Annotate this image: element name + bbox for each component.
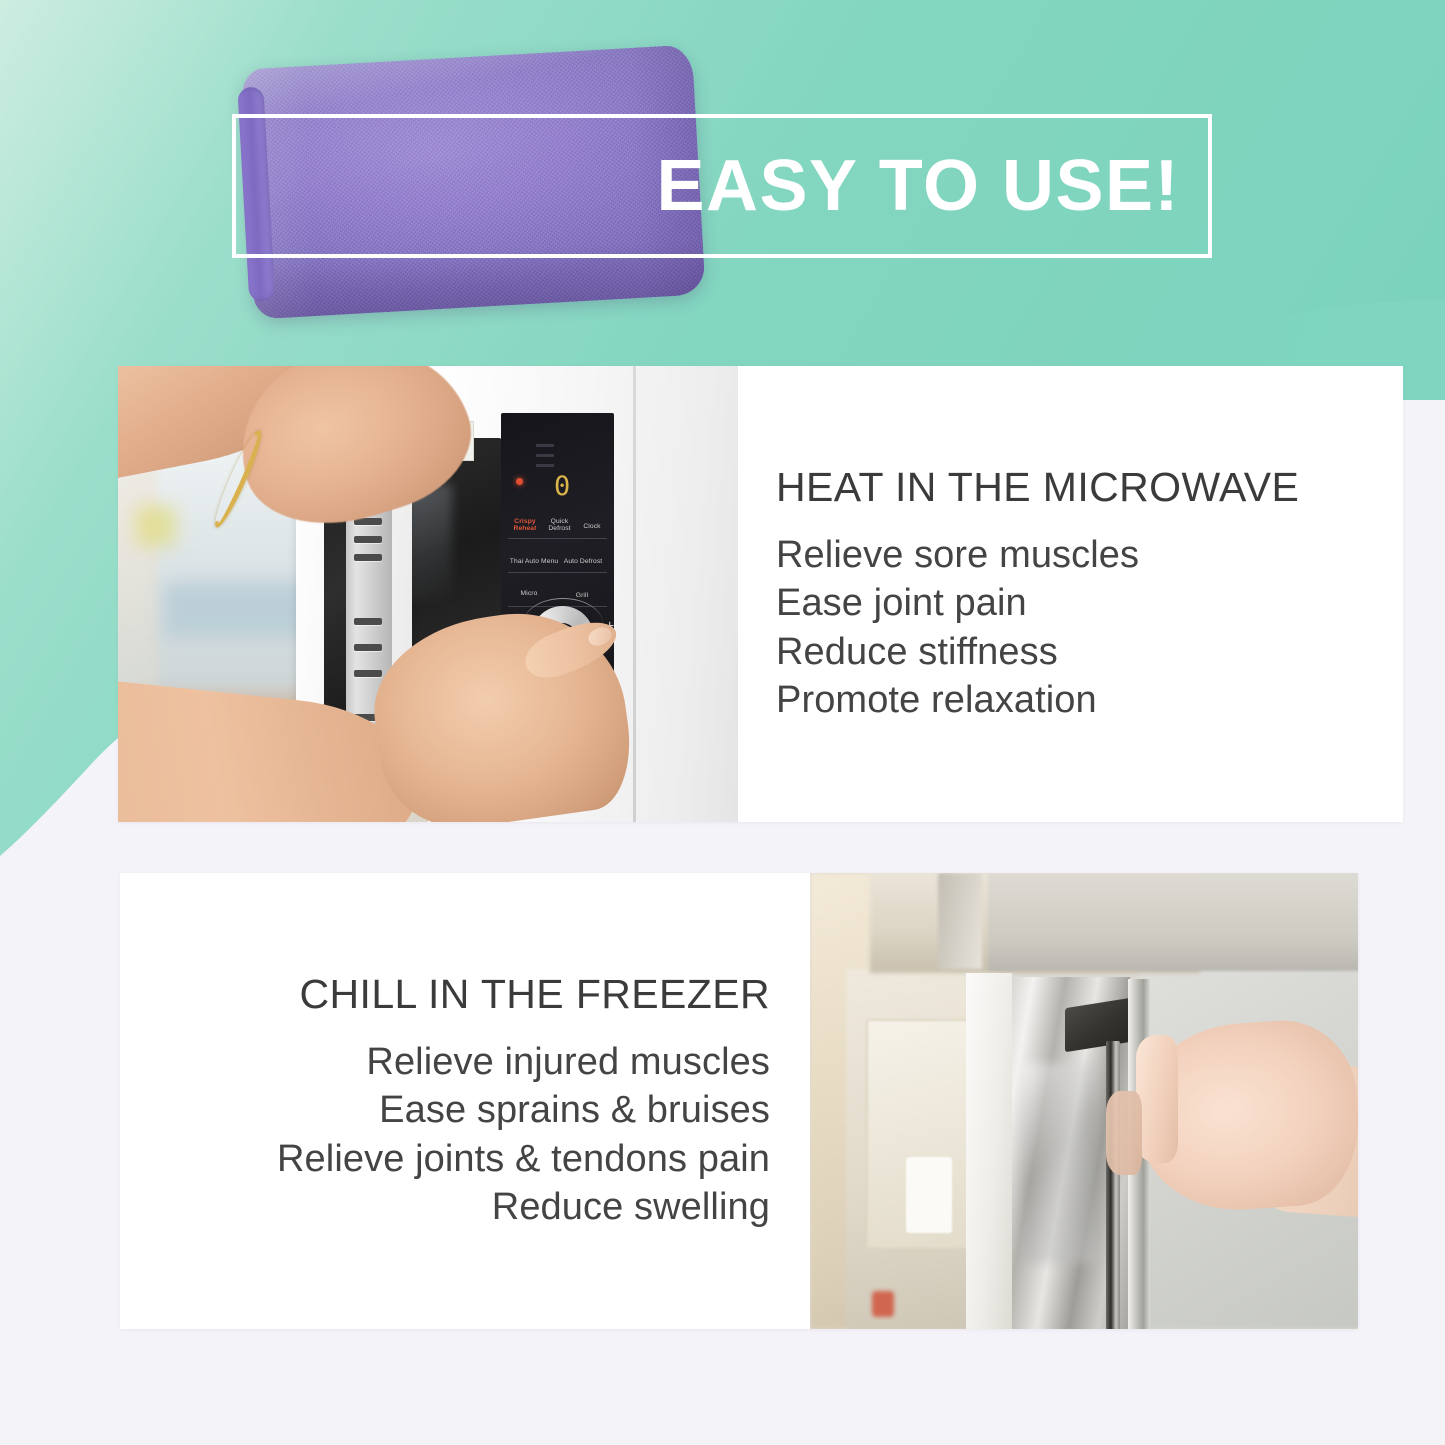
benefit-item: Ease sprains & bruises bbox=[277, 1086, 770, 1134]
benefit-item: Reduce swelling bbox=[277, 1183, 770, 1231]
microwave-key-auto-defrost[interactable]: Auto Defrost bbox=[560, 558, 606, 565]
freezer-thumb bbox=[1106, 1091, 1142, 1175]
microwave-copy: HEAT IN THE MICROWAVE Relieve sore muscl… bbox=[738, 366, 1403, 822]
microwave-section-title: HEAT IN THE MICROWAVE bbox=[776, 464, 1299, 511]
microwave-key-clock[interactable]: Clock bbox=[578, 523, 607, 530]
benefit-item: Relieve joints & tendons pain bbox=[277, 1135, 770, 1183]
microwave-key-crispy-reheat[interactable]: Crispy Reheat bbox=[509, 518, 542, 531]
benefit-item: Promote relaxation bbox=[776, 676, 1139, 724]
microwave-key-quick-defrost[interactable]: Quick Defrost bbox=[544, 518, 576, 531]
fridge-door-white-edge bbox=[966, 973, 1012, 1329]
infographic-page: EASY TO USE! bbox=[0, 0, 1445, 1445]
fridge-handle[interactable] bbox=[1106, 1041, 1120, 1329]
freezer-fingers bbox=[1136, 1035, 1178, 1163]
freezer-photo bbox=[810, 873, 1358, 1329]
microwave-key-micro[interactable]: Micro bbox=[512, 590, 547, 597]
microwave-benefit-list: Relieve sore muscles Ease joint pain Red… bbox=[776, 531, 1139, 724]
section-card-microwave: 0 Crispy Reheat Quick Defrost Clock Thai… bbox=[118, 366, 1403, 822]
microwave-display: 0 bbox=[554, 470, 573, 504]
microwave-photo: 0 Crispy Reheat Quick Defrost Clock Thai… bbox=[118, 366, 738, 822]
freezer-benefit-list: Relieve injured muscles Ease sprains & b… bbox=[277, 1038, 770, 1231]
freezer-section-title: CHILL IN THE FREEZER bbox=[300, 971, 770, 1018]
benefit-item: Relieve sore muscles bbox=[776, 531, 1139, 579]
easy-to-use-banner: EASY TO USE! bbox=[232, 114, 1212, 258]
section-card-freezer: CHILL IN THE FREEZER Relieve injured mus… bbox=[120, 873, 1358, 1329]
freezer-copy: CHILL IN THE FREEZER Relieve injured mus… bbox=[120, 873, 810, 1329]
microwave-key-thai-auto-menu[interactable]: Thai Auto Menu bbox=[507, 558, 561, 565]
microwave-indicator-led bbox=[516, 478, 523, 485]
page-title: EASY TO USE! bbox=[657, 150, 1208, 222]
benefit-item: Reduce stiffness bbox=[776, 628, 1139, 676]
benefit-item: Relieve injured muscles bbox=[277, 1038, 770, 1086]
benefit-item: Ease joint pain bbox=[776, 579, 1139, 627]
